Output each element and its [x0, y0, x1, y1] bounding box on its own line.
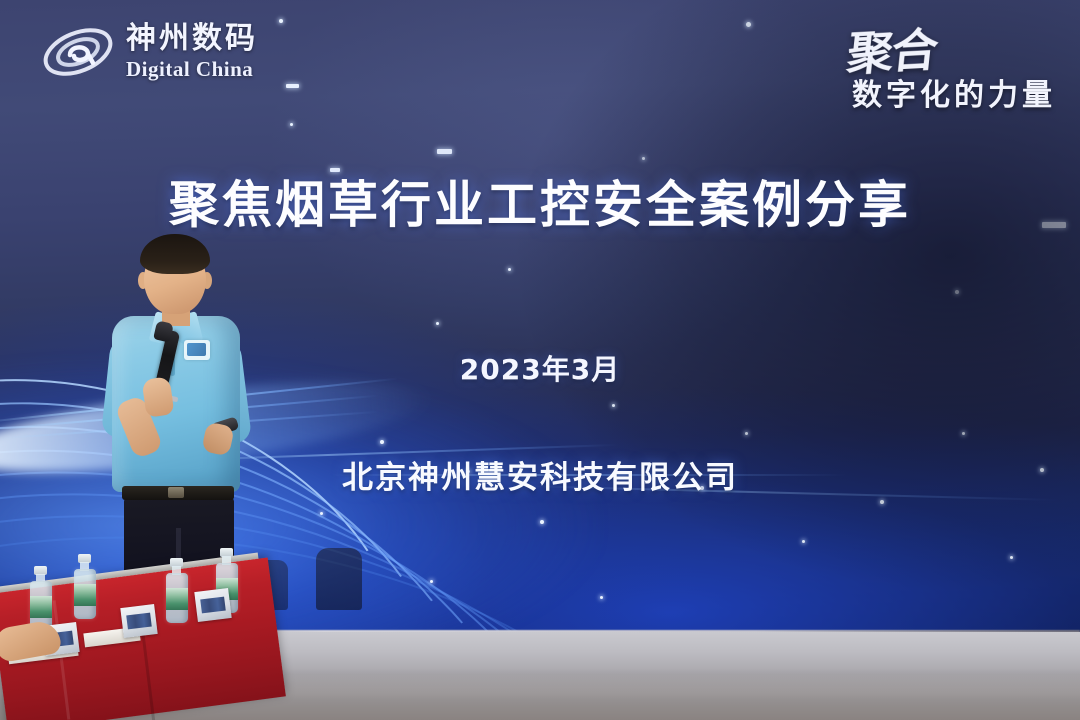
brand-name-en: Digital China: [126, 59, 258, 80]
belt-buckle: [168, 487, 184, 498]
company-logo-badge-icon: [187, 343, 206, 356]
digital-china-logo: 神州数码 Digital China: [40, 20, 258, 84]
name-card: [120, 604, 157, 638]
event-slogan-block: 聚合 数字化的力量: [848, 16, 1056, 114]
brand-name-cn: 神州数码: [126, 24, 258, 54]
digital-china-spiral-icon: [40, 20, 116, 84]
slogan-calligraphy: 聚合: [844, 14, 940, 85]
slide-title: 聚焦烟草行业工控安全案例分享: [0, 178, 1080, 232]
speaker-hair: [140, 234, 210, 274]
name-card: [194, 588, 231, 622]
conference-stage-photo: 神州数码 Digital China 聚合 数字化的力量 聚焦烟草行业工控安全案…: [0, 0, 1080, 720]
audience-silhouette: [316, 548, 362, 610]
